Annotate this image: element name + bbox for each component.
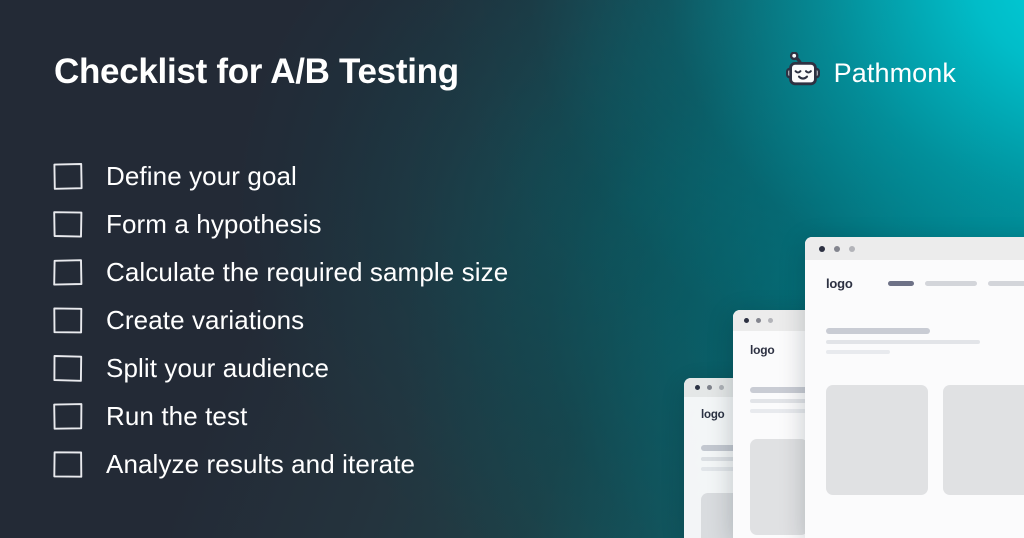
- brand-name: Pathmonk: [834, 58, 956, 89]
- checkbox-icon[interactable]: [52, 162, 84, 191]
- robot-head-icon: [783, 52, 823, 94]
- window-dot-close-icon: [744, 318, 749, 323]
- checklist-item[interactable]: Analyze results and iterate: [52, 440, 508, 488]
- checkbox-icon[interactable]: [52, 210, 84, 239]
- browser-content: logo: [805, 260, 1024, 538]
- checklist-item-label: Create variations: [106, 305, 304, 336]
- content-block: [826, 385, 928, 495]
- text-line: [750, 409, 810, 413]
- window-dot-minimize-icon: [834, 246, 840, 252]
- checklist-item[interactable]: Split your audience: [52, 344, 508, 392]
- checklist-item-label: Analyze results and iterate: [106, 449, 415, 480]
- text-line: [826, 328, 930, 334]
- checklist-item[interactable]: Form a hypothesis: [52, 200, 508, 248]
- browser-title-bar: [805, 237, 1024, 260]
- page-title: Checklist for A/B Testing: [54, 52, 459, 92]
- nav-pill[interactable]: [925, 281, 977, 286]
- checklist-item[interactable]: Define your goal: [52, 152, 508, 200]
- checklist-item-label: Define your goal: [106, 161, 297, 192]
- checkbox-icon[interactable]: [52, 354, 84, 383]
- site-logo: logo: [701, 409, 724, 421]
- checklist-item[interactable]: Create variations: [52, 296, 508, 344]
- window-dot-close-icon: [819, 246, 825, 252]
- text-placeholder-group: [805, 328, 1024, 354]
- window-dot-close-icon: [695, 385, 700, 390]
- window-dot-minimize-icon: [707, 385, 712, 390]
- checklist-item-label: Run the test: [106, 401, 247, 432]
- window-dot-minimize-icon: [756, 318, 761, 323]
- site-logo: logo: [750, 343, 775, 357]
- content-block-group: [805, 385, 1024, 495]
- window-dot-maximize-icon: [768, 318, 773, 323]
- content-block: [750, 439, 808, 535]
- site-logo: logo: [826, 276, 853, 291]
- checkbox-icon[interactable]: [52, 450, 84, 479]
- window-dot-maximize-icon: [849, 246, 855, 252]
- checklist: Define your goal Form a hypothesis Calcu…: [52, 152, 508, 488]
- checkbox-icon[interactable]: [52, 402, 84, 431]
- window-dot-maximize-icon: [719, 385, 724, 390]
- checklist-item-label: Form a hypothesis: [106, 209, 322, 240]
- nav-pill[interactable]: [988, 281, 1024, 286]
- checklist-item[interactable]: Calculate the required sample size: [52, 248, 508, 296]
- content-block: [943, 385, 1024, 495]
- browser-mockup-front: logo: [805, 237, 1024, 538]
- checklist-item-label: Split your audience: [106, 353, 329, 384]
- promo-graphic: Checklist for A/B Testing Pathmonk: [0, 0, 1024, 538]
- text-line: [826, 340, 980, 344]
- text-line: [826, 350, 890, 354]
- checklist-item-label: Calculate the required sample size: [106, 257, 508, 288]
- checkbox-icon[interactable]: [52, 306, 84, 335]
- site-nav: logo: [805, 260, 1024, 291]
- checkbox-icon[interactable]: [52, 258, 84, 287]
- brand-lockup: Pathmonk: [783, 52, 956, 94]
- checklist-item[interactable]: Run the test: [52, 392, 508, 440]
- nav-pill[interactable]: [888, 281, 914, 286]
